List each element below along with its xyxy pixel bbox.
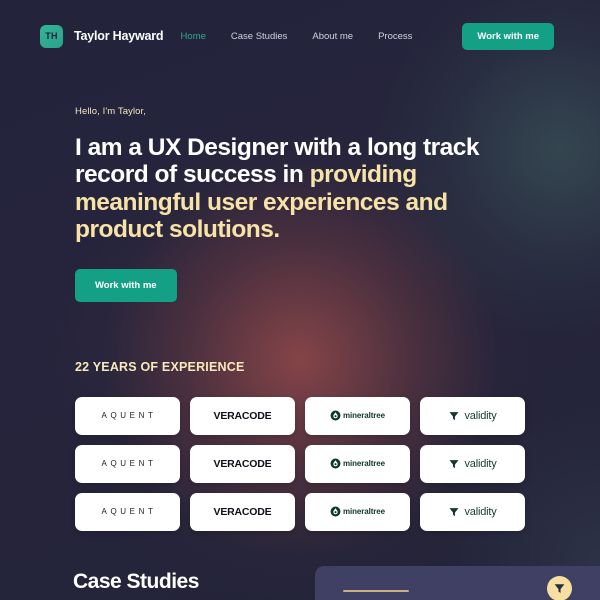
mineraltree-logo: mineraltree bbox=[330, 506, 385, 517]
logo-card-validity[interactable]: validity bbox=[420, 397, 525, 435]
validity-funnel-icon bbox=[553, 582, 566, 595]
case-study-card[interactable] bbox=[315, 566, 600, 600]
logo-card-veracode[interactable]: VERACODE bbox=[190, 397, 295, 435]
logo-card-validity[interactable]: validity bbox=[420, 445, 525, 483]
hero-eyebrow: Hello, I'm Taylor, bbox=[75, 106, 560, 117]
veracode-wordmark: VERACODE bbox=[214, 506, 272, 518]
veracode-wordmark: VERACODE bbox=[214, 458, 272, 470]
hero-work-with-me-button[interactable]: Work with me bbox=[75, 269, 177, 302]
droplet-circle-icon bbox=[330, 410, 341, 421]
logo-card-veracode[interactable]: VERACODE bbox=[190, 493, 295, 531]
client-logo-grid: AQUENT VERACODE mineraltree bbox=[75, 397, 525, 531]
aquent-wordmark: AQUENT bbox=[99, 507, 157, 516]
nav-link-about-me[interactable]: About me bbox=[312, 31, 353, 42]
validity-wordmark: validity bbox=[464, 410, 496, 422]
hero-section: Hello, I'm Taylor, I am a UX Designer wi… bbox=[0, 72, 600, 302]
mineraltree-wordmark: mineraltree bbox=[343, 411, 385, 420]
nav-links: Home Case Studies About me Process Work … bbox=[181, 23, 554, 50]
droplet-circle-icon bbox=[330, 506, 341, 517]
brand-logo[interactable]: TH Taylor Hayward bbox=[40, 25, 163, 48]
validity-logo: validity bbox=[448, 506, 496, 518]
mineraltree-wordmark: mineraltree bbox=[343, 507, 385, 516]
validity-wordmark: validity bbox=[464, 506, 496, 518]
case-card-divider bbox=[343, 590, 409, 592]
mineraltree-logo: mineraltree bbox=[330, 458, 385, 469]
logo-card-aquent[interactable]: AQUENT bbox=[75, 493, 180, 531]
case-card-validity-badge bbox=[547, 576, 572, 600]
nav-link-process[interactable]: Process bbox=[378, 31, 412, 42]
veracode-wordmark: VERACODE bbox=[214, 410, 272, 422]
case-studies-title: Case Studies bbox=[73, 570, 199, 594]
mineraltree-logo: mineraltree bbox=[330, 410, 385, 421]
nav-work-with-me-button[interactable]: Work with me bbox=[462, 23, 554, 50]
nav-link-home[interactable]: Home bbox=[181, 31, 206, 42]
brand-name: Taylor Hayward bbox=[74, 29, 163, 43]
logo-card-mineraltree[interactable]: mineraltree bbox=[305, 445, 410, 483]
logo-card-validity[interactable]: validity bbox=[420, 493, 525, 531]
mineraltree-wordmark: mineraltree bbox=[343, 459, 385, 468]
logo-card-aquent[interactable]: AQUENT bbox=[75, 445, 180, 483]
validity-funnel-icon bbox=[448, 458, 460, 470]
validity-funnel-icon bbox=[448, 506, 460, 518]
validity-wordmark: validity bbox=[464, 458, 496, 470]
logo-card-mineraltree[interactable]: mineraltree bbox=[305, 397, 410, 435]
aquent-wordmark: AQUENT bbox=[99, 459, 157, 468]
validity-funnel-icon bbox=[448, 410, 460, 422]
hero-title: I am a UX Designer with a long track rec… bbox=[75, 134, 495, 244]
navbar: TH Taylor Hayward Home Case Studies Abou… bbox=[0, 0, 600, 72]
nav-link-case-studies[interactable]: Case Studies bbox=[231, 31, 288, 42]
experience-heading: 22 YEARS OF EXPERIENCE bbox=[75, 360, 560, 374]
droplet-circle-icon bbox=[330, 458, 341, 469]
brand-badge-icon: TH bbox=[40, 25, 63, 48]
validity-logo: validity bbox=[448, 458, 496, 470]
validity-logo: validity bbox=[448, 410, 496, 422]
case-studies-section: Case Studies bbox=[0, 538, 600, 600]
logo-card-mineraltree[interactable]: mineraltree bbox=[305, 493, 410, 531]
experience-section: 22 YEARS OF EXPERIENCE AQUENT VERACODE m… bbox=[0, 302, 600, 531]
logo-card-veracode[interactable]: VERACODE bbox=[190, 445, 295, 483]
aquent-wordmark: AQUENT bbox=[99, 411, 157, 420]
logo-card-aquent[interactable]: AQUENT bbox=[75, 397, 180, 435]
hero-title-plain: I am a UX Designer with a long track rec… bbox=[75, 134, 479, 188]
page-root: TH Taylor Hayward Home Case Studies Abou… bbox=[0, 0, 600, 600]
